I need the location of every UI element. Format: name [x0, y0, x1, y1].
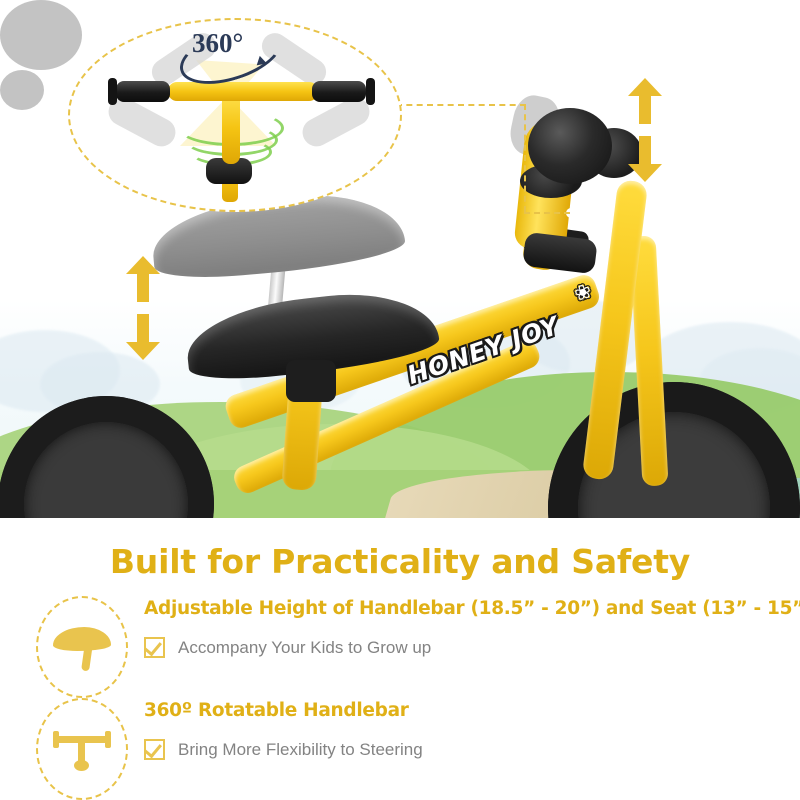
inset-grip-left — [116, 81, 170, 102]
inset-grip-right — [312, 81, 366, 102]
callout-leader-line — [524, 212, 570, 214]
handlebar-icon — [53, 726, 111, 772]
handlebar-ghost-grip — [0, 70, 44, 110]
product-infographic: HONEY JOY ❀ — [0, 0, 800, 800]
feature-subrow: Bring More Flexibility to Steering — [144, 739, 776, 760]
wheel-spoke — [101, 504, 179, 518]
inset-grip-cap-right — [366, 78, 375, 105]
handlebar-height-arrows — [628, 78, 662, 182]
wheel-spoke — [88, 503, 106, 518]
inset-grip-cap-left — [108, 78, 117, 105]
feature-row: 360º Rotatable Handlebar Bring More Flex… — [36, 698, 776, 796]
feature-heading: 360º Rotatable Handlebar — [144, 700, 776, 721]
feature-heading: Adjustable Height of Handlebar (18.5” - … — [144, 598, 776, 619]
feature-subrow: Accompany Your Kids to Grow up — [144, 637, 776, 658]
wheel-spoke — [27, 490, 106, 518]
wheel-spoke — [672, 508, 765, 518]
inset-handlebar-stem — [222, 92, 240, 164]
rotation-degree-label: 360° — [192, 28, 243, 59]
inset-handlebar-bar — [168, 82, 318, 101]
checkbox-checked-icon — [144, 739, 165, 760]
arrow-up-icon — [126, 256, 160, 302]
checkbox-checked-icon — [144, 637, 165, 658]
wheel-spoke — [658, 508, 690, 518]
wheel-hub — [652, 486, 696, 518]
hero-photo: HONEY JOY ❀ — [0, 0, 800, 518]
handlebar-ghost-high-position — [0, 0, 82, 70]
arrow-down-icon — [126, 314, 160, 360]
feature-subtext: Bring More Flexibility to Steering — [178, 740, 423, 760]
feature-body: Adjustable Height of Handlebar (18.5” - … — [144, 598, 776, 658]
feature-body: 360º Rotatable Handlebar Bring More Flex… — [144, 700, 776, 760]
wheel-spoke — [62, 431, 118, 504]
seat-clamp — [286, 360, 336, 402]
feature-icon-badge — [36, 698, 128, 800]
feature-icon-badge — [36, 596, 128, 698]
arrow-down-icon — [628, 136, 662, 182]
handlebar-grip-front — [528, 108, 612, 184]
saddle-icon — [53, 623, 111, 671]
feature-panel: Built for Practicality and Safety Adjust… — [0, 518, 800, 800]
feature-row: Adjustable Height of Handlebar (18.5” - … — [36, 596, 776, 694]
feature-subtext: Accompany Your Kids to Grow up — [178, 638, 431, 658]
wheel-spoke — [106, 443, 166, 514]
panel-title: Built for Practicality and Safety — [0, 542, 800, 581]
seat-height-arrows — [126, 256, 160, 360]
arrow-up-icon — [628, 78, 662, 124]
wheel-hub — [87, 485, 125, 518]
callout-leader-line — [396, 104, 526, 106]
wheel-spoke — [585, 494, 674, 518]
callout-leader-line — [524, 104, 526, 212]
wheel-spoke — [674, 425, 729, 515]
